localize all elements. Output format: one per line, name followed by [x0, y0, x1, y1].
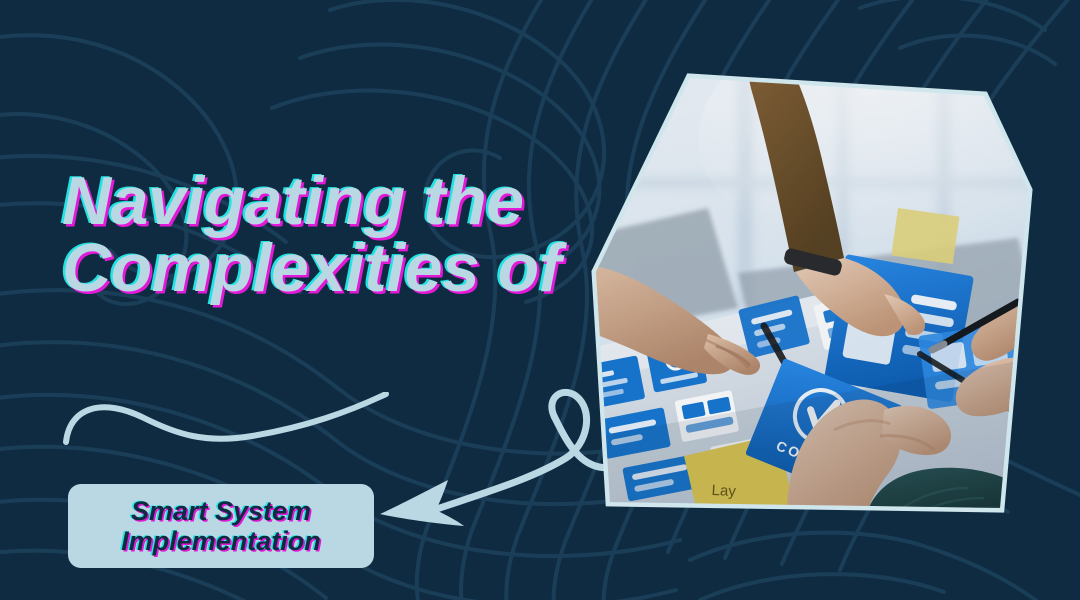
subtitle-text: Smart System Implementation: [121, 496, 321, 556]
photo-frame: Lay COMPLETE: [588, 58, 1036, 528]
photo-illustration: Lay COMPLETE: [588, 58, 1036, 528]
headline-title: Navigating the Complexities of: [62, 168, 662, 301]
banner-canvas: Navigating the Complexities of Smart Sys…: [0, 0, 1080, 600]
wavy-underline-decoration: [56, 392, 396, 448]
subtitle-badge: Smart System Implementation: [68, 484, 374, 568]
